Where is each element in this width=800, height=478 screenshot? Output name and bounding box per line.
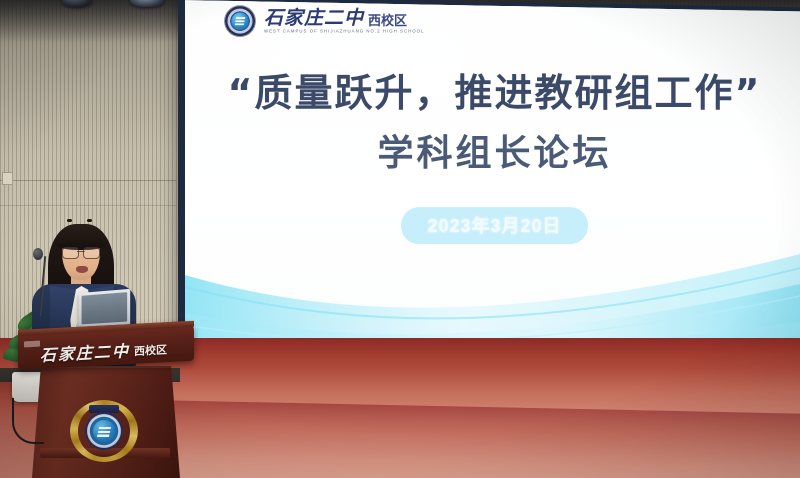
eyeglasses-icon	[62, 247, 100, 257]
eye	[67, 219, 72, 222]
wall-seam	[0, 205, 176, 206]
laptop-screen	[82, 292, 128, 324]
school-name-cn: 石家庄二中	[264, 9, 364, 28]
laurel-wreath-crest-icon	[70, 400, 138, 462]
wall-outlet-plate-icon	[2, 172, 13, 185]
slide-date-badge: 2023年3月20日	[401, 207, 587, 244]
slide-brand-lockup: 石家庄二中 西校区 WEST CAMPUS OF SHIJIAZHUANG NO…	[225, 6, 424, 36]
podium-name-tag	[24, 341, 40, 348]
projection-screen: 石家庄二中 西校区 WEST CAMPUS OF SHIJIAZHUANG NO…	[185, 0, 800, 378]
eye	[87, 219, 92, 222]
podium-campus-name-cn: 西校区	[134, 345, 167, 359]
podium-school-name-cn: 石家庄二中	[40, 343, 130, 364]
screenshot-root: 石家庄二中 西校区 WEST CAMPUS OF SHIJIAZHUANG NO…	[0, 0, 800, 478]
campus-name-cn: 西校区	[368, 14, 407, 28]
podium: 石家庄二中 西校区	[18, 330, 194, 478]
school-wordmark: 石家庄二中 西校区 WEST CAMPUS OF SHIJIAZHUANG NO…	[264, 9, 424, 33]
laptop-icon	[79, 289, 131, 329]
slide-canvas: 石家庄二中 西校区 WEST CAMPUS OF SHIJIAZHUANG NO…	[185, 0, 800, 367]
slide-date-row: 2023年3月20日	[185, 207, 800, 244]
wall-seam	[0, 180, 176, 181]
slide-subtitle: 学科组长论坛	[185, 133, 800, 174]
school-name-en: WEST CAMPUS OF SHIJIAZHUANG NO.2 HIGH SC…	[264, 29, 424, 34]
projection-screen-frame: 石家庄二中 西校区 WEST CAMPUS OF SHIJIAZHUANG NO…	[178, 0, 800, 385]
slide-title: “质量跃升，推进教研组工作”	[185, 72, 800, 116]
microphone-icon	[33, 248, 43, 260]
mouth	[76, 266, 88, 273]
stage-floor-front	[150, 400, 800, 478]
school-crest-icon	[225, 6, 255, 36]
